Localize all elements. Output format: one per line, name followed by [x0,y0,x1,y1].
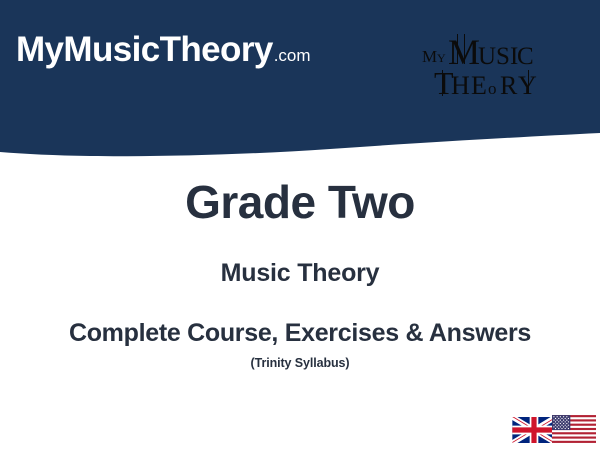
subject-subtitle: Music Theory [0,260,600,288]
page-title: Grade Two [0,178,600,228]
svg-text:Y: Y [437,51,446,65]
flag-group [512,415,596,443]
svg-text:H: H [451,71,470,100]
svg-text:o: o [488,79,497,98]
svg-text:Y: Y [518,71,537,100]
logo-glyph-icon: M Y M U S I C T H E o R Y [420,26,538,102]
header-band: MyMusicTheory .com M Y M U S I C T H [0,0,600,162]
svg-text:S: S [496,43,510,70]
united-states-flag-icon [552,415,596,443]
title-block: Grade Two Music Theory Complete Course, … [0,178,600,370]
svg-text:C: C [517,43,534,70]
svg-text:M: M [422,47,438,66]
svg-text:R: R [500,71,518,100]
brand-wordmark[interactable]: MyMusicTheory .com [16,32,311,67]
my-music-theory-logo-icon: M Y M U S I C T H E o R Y [420,26,538,102]
brand-name: MyMusicTheory [16,32,273,67]
brand-tld: .com [274,47,311,64]
contents-subtitle: Complete Course, Exercises & Answers [0,320,600,348]
cover-page: MyMusicTheory .com M Y M U S I C T H [0,0,600,450]
svg-text:E: E [471,71,487,100]
united-kingdom-flag-icon [512,417,556,443]
svg-text:U: U [478,43,496,70]
syllabus-note: (Trinity Syllabus) [0,357,600,371]
